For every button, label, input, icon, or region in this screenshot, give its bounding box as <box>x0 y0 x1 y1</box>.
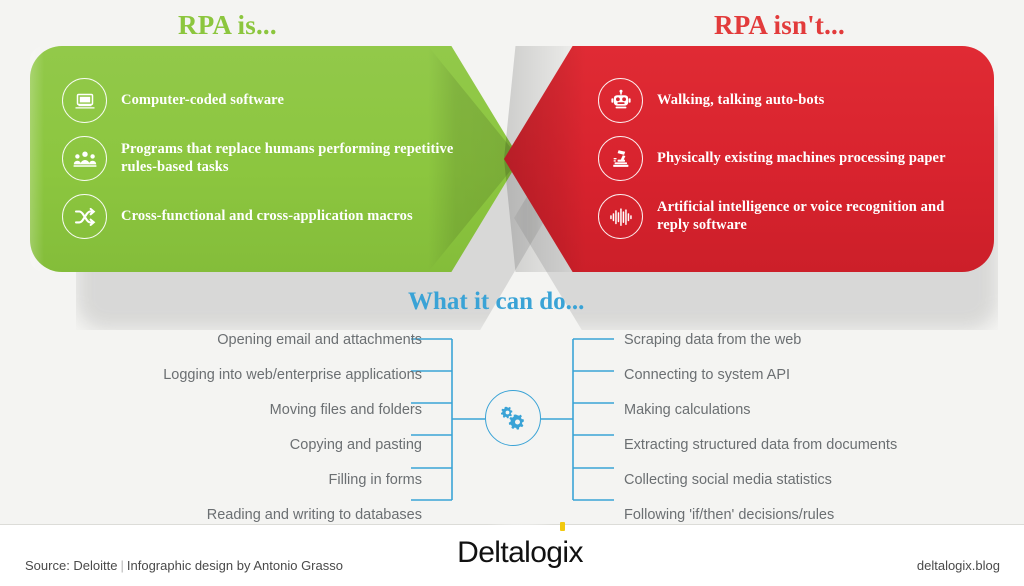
rpa-is-item-3-label: Cross-functional and cross-application m… <box>121 208 413 226</box>
laptop-icon <box>62 78 107 123</box>
people-group-icon <box>62 136 107 181</box>
rpa-is-item-1-label: Computer-coded software <box>121 92 284 110</box>
capability-right-4: Extracting structured data from document… <box>624 427 897 462</box>
deltalogix-logo-text: Deltalogix <box>457 536 583 570</box>
rpa-is-title: RPA is... <box>178 10 277 41</box>
capability-left-3: Moving files and folders <box>270 392 422 427</box>
rpa-isnt-item-3-label: Artificial intelligence or voice recogni… <box>657 199 978 234</box>
footer-source-label: Source: Deloitte <box>25 558 118 573</box>
gears-icon <box>485 390 541 446</box>
rpa-isnt-item-2-label: Physically existing machines processing … <box>657 150 946 168</box>
footer-designer-label: Infographic design by Antonio Grasso <box>127 558 343 573</box>
red-panel-bevel <box>504 46 586 272</box>
green-panel-edge-highlight <box>30 46 44 272</box>
logo-accent-dot <box>560 522 565 531</box>
capabilities-left-list: Opening email and attachments Logging in… <box>92 322 422 532</box>
rpa-is-item-1: Computer-coded software <box>62 78 462 123</box>
footer-credit: Source: Deloitte|Infographic design by A… <box>25 558 343 573</box>
rpa-isnt-item-1: Walking, talking auto-bots <box>598 78 978 123</box>
robot-icon <box>598 78 643 123</box>
shuffle-arrows-icon <box>62 194 107 239</box>
infographic-canvas: RPA is... RPA isn't... Computer-coded so… <box>0 0 1024 586</box>
rpa-isnt-item-1-label: Walking, talking auto-bots <box>657 92 824 110</box>
footer-website-link[interactable]: deltalogix.blog <box>917 558 1000 573</box>
rpa-is-item-2: Programs that replace humans performing … <box>62 136 462 181</box>
rpa-is-item-3: Cross-functional and cross-application m… <box>62 194 462 239</box>
sound-wave-icon <box>598 194 643 239</box>
capabilities-right-list: Scraping data from the web Connecting to… <box>624 322 954 532</box>
deltalogix-logo[interactable]: Deltalogix <box>455 524 585 582</box>
capability-right-1: Scraping data from the web <box>624 322 801 357</box>
capability-left-2: Logging into web/enterprise applications <box>163 357 422 392</box>
rpa-isnt-item-3: Artificial intelligence or voice recogni… <box>598 194 978 239</box>
rpa-isnt-bullet-list: Walking, talking auto-bots Physically ex… <box>598 78 978 252</box>
capability-right-2: Connecting to system API <box>624 357 790 392</box>
footer-separator: | <box>118 558 127 573</box>
rpa-isnt-item-2: Physically existing machines processing … <box>598 136 978 181</box>
rpa-isnt-title: RPA isn't... <box>714 10 845 41</box>
capability-right-3: Making calculations <box>624 392 751 427</box>
capability-left-5: Filling in forms <box>329 462 422 497</box>
capability-left-4: Copying and pasting <box>290 427 422 462</box>
robot-arm-icon <box>598 136 643 181</box>
rpa-is-item-2-label: Programs that replace humans performing … <box>121 141 462 176</box>
capability-left-1: Opening email and attachments <box>217 322 422 357</box>
rpa-is-bullet-list: Computer-coded software Programs that re… <box>62 78 462 252</box>
what-it-can-do-title: What it can do... <box>408 288 584 316</box>
capability-right-5: Collecting social media statistics <box>624 462 832 497</box>
